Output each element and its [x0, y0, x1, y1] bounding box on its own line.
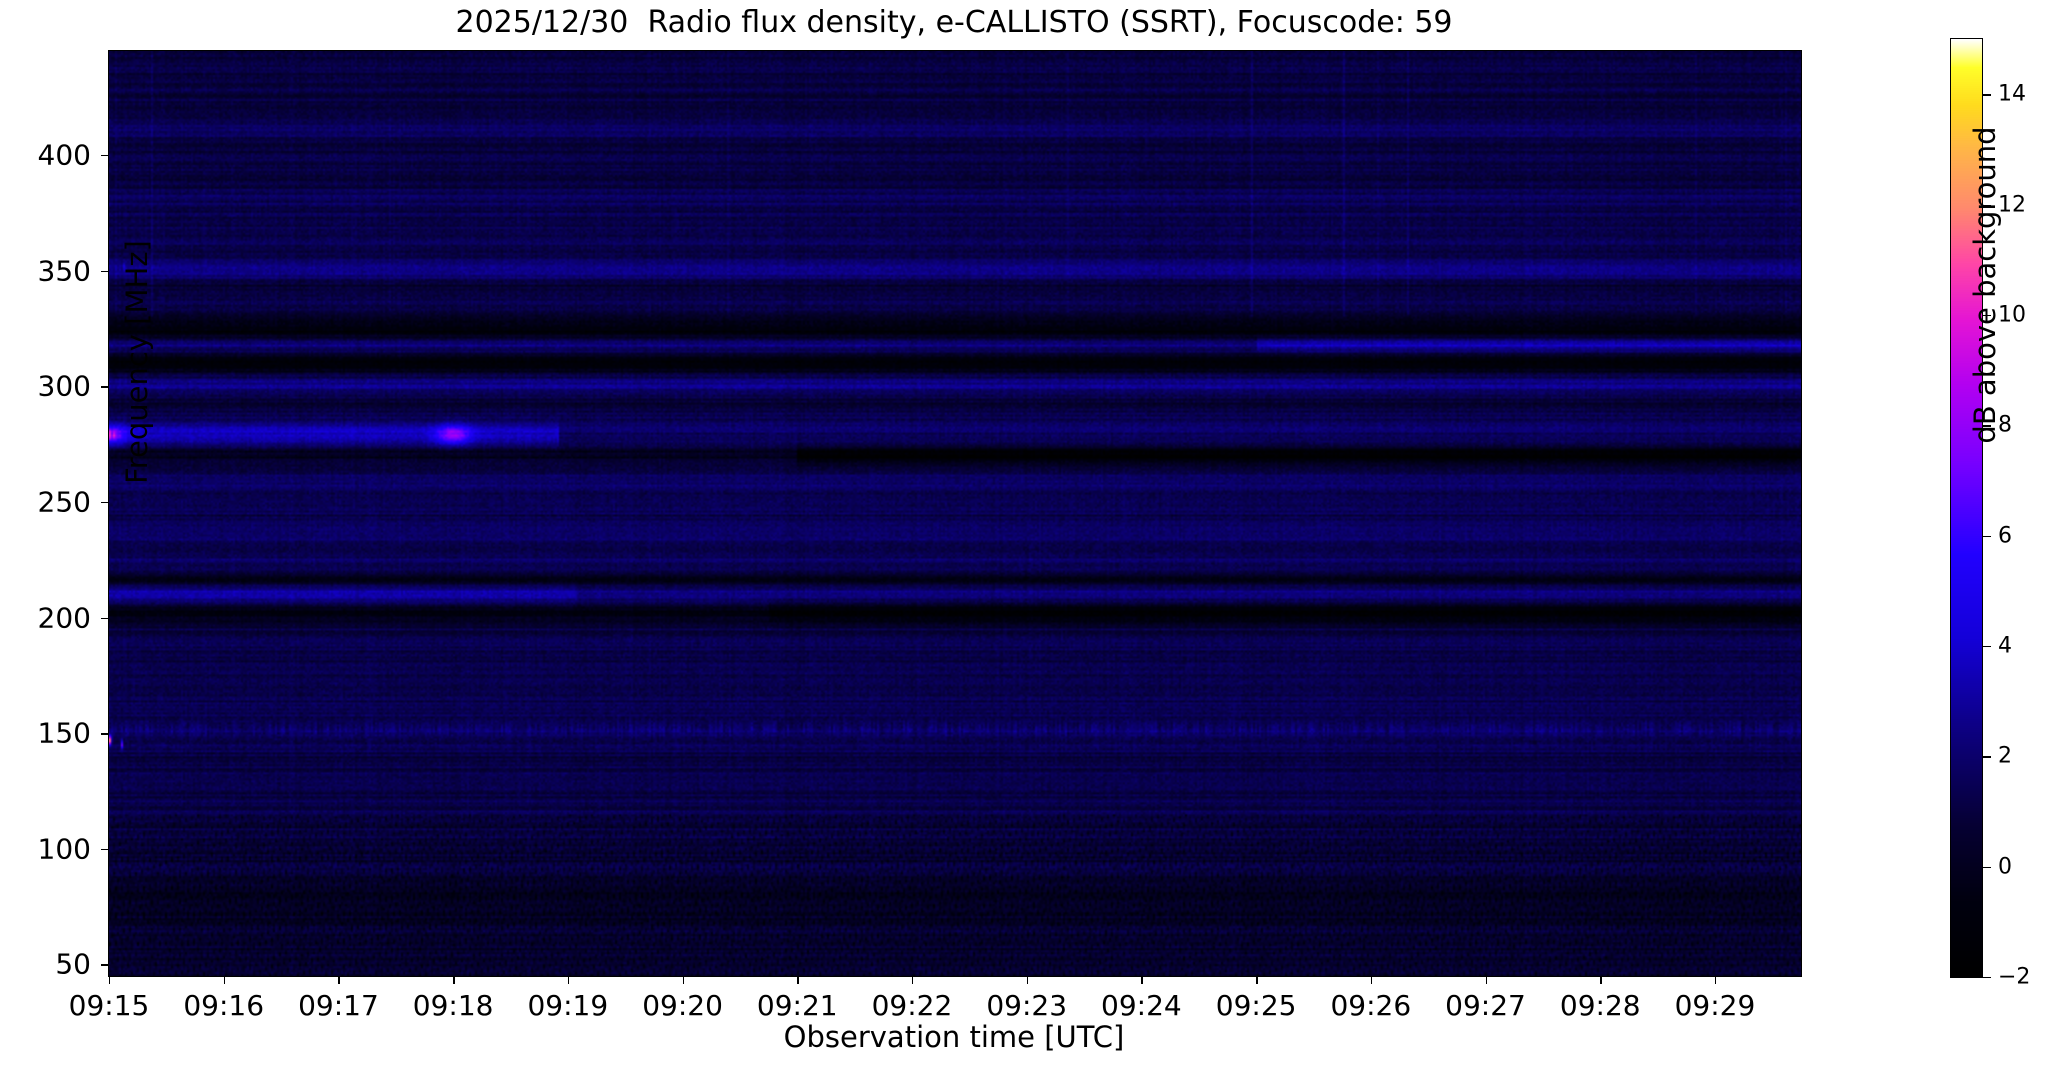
- y-tick-mark: [101, 386, 109, 387]
- x-tick-label: 09:27: [1445, 989, 1526, 1022]
- colorbar-tick-label: 6: [1998, 523, 2012, 548]
- colorbar-tick-mark: [1983, 756, 1991, 757]
- y-tick-mark: [101, 733, 109, 734]
- x-tick-mark: [1486, 976, 1487, 984]
- y-tick-mark: [101, 271, 109, 272]
- x-tick-mark: [338, 976, 339, 984]
- y-tick-mark: [101, 155, 109, 156]
- x-tick-label: 09:24: [1101, 989, 1182, 1022]
- x-tick-label: 09:21: [757, 989, 838, 1022]
- y-tick-mark: [101, 964, 109, 965]
- y-tick-label: 100: [0, 832, 91, 865]
- x-tick-mark: [1256, 976, 1257, 984]
- x-tick-mark: [912, 976, 913, 984]
- x-tick-mark: [797, 976, 798, 984]
- colorbar-tick-label: 12: [1998, 192, 2026, 217]
- colorbar-label: dB above background: [1968, 70, 2002, 500]
- y-tick-label: 300: [0, 370, 91, 403]
- colorbar-tick-label: 4: [1998, 633, 2012, 658]
- spectrogram-image: [109, 51, 1801, 976]
- colorbar-tick-label: −2: [1998, 965, 2030, 990]
- figure-canvas: 2025/12/30 Radio flux density, e-CALLIST…: [0, 0, 2066, 1067]
- x-tick-label: 09:19: [527, 989, 608, 1022]
- colorbar-tick-label: 2: [1998, 744, 2012, 769]
- x-tick-mark: [683, 976, 684, 984]
- spectrogram-axes: 40035030025020015010050 09:1509:1609:170…: [108, 50, 1802, 977]
- x-tick-label: 09:15: [69, 989, 150, 1022]
- y-tick-label: 50: [0, 948, 91, 981]
- colorbar-tick-label: 10: [1998, 302, 2026, 327]
- colorbar-tick-mark: [1983, 977, 1991, 978]
- x-tick-mark: [1371, 976, 1372, 984]
- y-tick-label: 400: [0, 139, 91, 172]
- x-tick-label: 09:22: [872, 989, 953, 1022]
- x-tick-mark: [568, 976, 569, 984]
- y-tick-label: 350: [0, 254, 91, 287]
- colorbar-tick-mark: [1983, 867, 1991, 868]
- x-tick-label: 09:25: [1216, 989, 1297, 1022]
- x-tick-label: 09:29: [1675, 989, 1756, 1022]
- y-tick-mark: [101, 849, 109, 850]
- x-tick-mark: [1715, 976, 1716, 984]
- x-tick-label: 09:18: [413, 989, 494, 1022]
- colorbar-tick-label: 0: [1998, 854, 2012, 879]
- y-tick-label: 250: [0, 485, 91, 518]
- colorbar-tick-mark: [1983, 536, 1991, 537]
- x-tick-label: 09:20: [642, 989, 723, 1022]
- x-tick-mark: [1027, 976, 1028, 984]
- x-tick-label: 09:17: [298, 989, 379, 1022]
- y-tick-label: 200: [0, 601, 91, 634]
- y-tick-mark: [101, 502, 109, 503]
- x-tick-label: 09:16: [183, 989, 264, 1022]
- x-tick-label: 09:28: [1560, 989, 1641, 1022]
- x-tick-mark: [224, 976, 225, 984]
- x-tick-mark: [109, 976, 110, 984]
- colorbar-tick-mark: [1983, 646, 1991, 647]
- x-tick-mark: [1600, 976, 1601, 984]
- x-tick-label: 09:26: [1330, 989, 1411, 1022]
- x-tick-mark: [453, 976, 454, 984]
- x-axis-label: Observation time [UTC]: [108, 1020, 1800, 1054]
- y-axis-label: Frequency [MHz]: [120, 202, 154, 522]
- y-tick-label: 150: [0, 717, 91, 750]
- x-tick-label: 09:23: [986, 989, 1067, 1022]
- colorbar-tick-label: 14: [1998, 82, 2026, 107]
- page-title: 2025/12/30 Radio flux density, e-CALLIST…: [108, 4, 1800, 42]
- y-tick-mark: [101, 618, 109, 619]
- x-tick-mark: [1141, 976, 1142, 984]
